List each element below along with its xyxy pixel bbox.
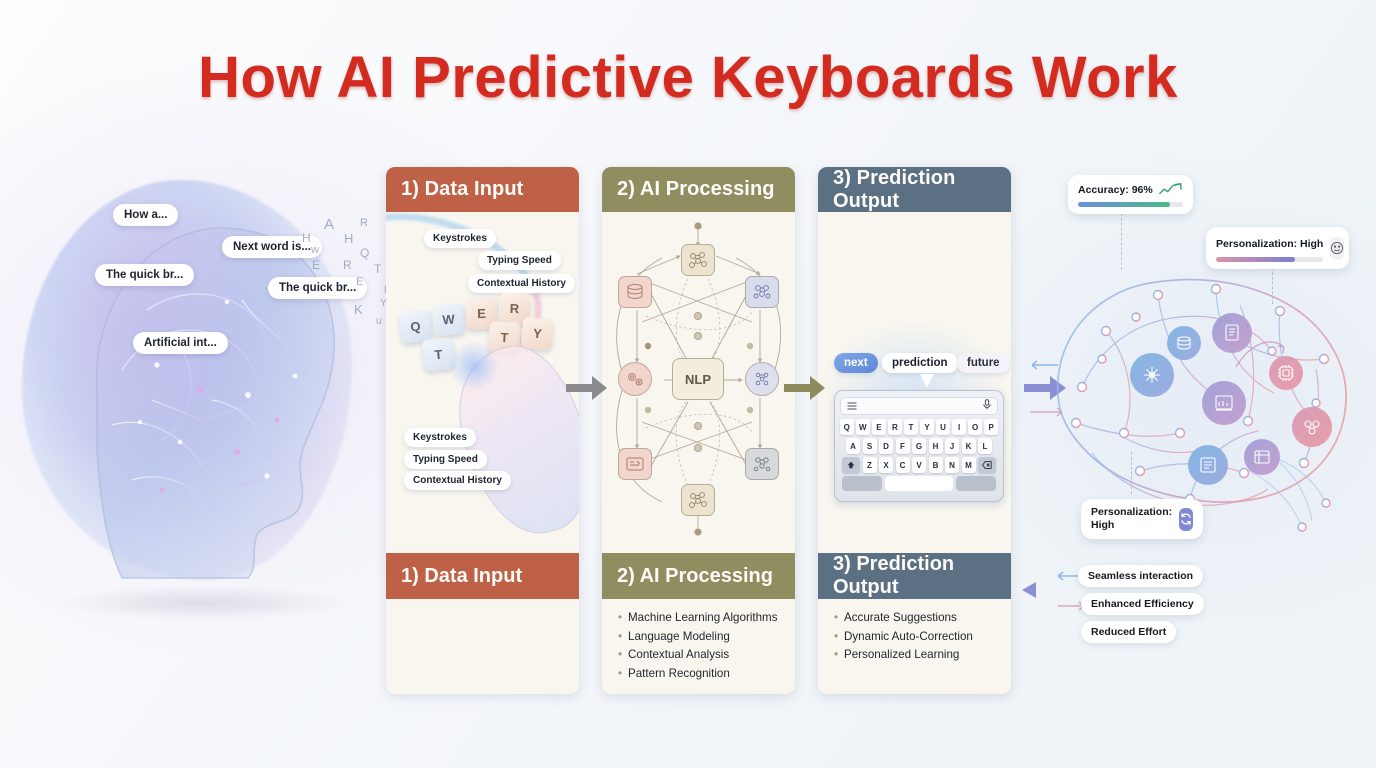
keyboard-toolbar [840,397,998,415]
key-t[interactable]: T [904,419,918,435]
virtual-keyboard[interactable]: QWERTYUIOP ASDFGHJKL ZXCVBNM [834,390,1004,502]
trending-up-icon [1159,182,1183,197]
outcome-pill-2: Reduced Effort [1081,621,1176,643]
key-c[interactable]: C [896,457,910,473]
speech-bubble-tail [920,374,934,388]
panel-bullets-ai-processing: Machine Learning AlgorithmsLanguage Mode… [602,599,795,694]
key-s[interactable]: S [863,438,877,454]
tag-typing-speed-top: Typing Speed [478,251,561,270]
panel-header-prediction-output: 3) Prediction Output [818,167,1011,212]
floating-letter-3: R [360,217,368,229]
prediction-chip-prediction[interactable]: prediction [882,353,958,373]
node-gear-left [618,362,652,396]
tag-contextual-history-bottom: Contextual History [404,471,511,490]
panel-prediction-output[interactable]: 3) Prediction Output next prediction fut… [818,167,1011,694]
panel-body-ai-processing: NLP [602,212,795,553]
floating-letter-11: K [354,302,363,317]
node-network-top [681,244,715,276]
key-f[interactable]: F [896,438,910,454]
key-spacebar[interactable] [885,476,953,491]
list-item: Personalized Learning [834,648,1001,661]
list-item: Language Modeling [618,630,785,643]
key-q[interactable]: Q [840,419,854,435]
personalization-bar-fill [1216,257,1295,262]
key-d[interactable]: D [879,438,893,454]
accuracy-bar-fill [1078,202,1170,207]
prediction-chip-future[interactable]: future [957,353,1010,373]
keyboard-row-space [840,476,998,491]
microphone-icon[interactable] [983,397,991,415]
key-x[interactable]: X [879,457,893,473]
panel-footer-header-prediction-output: 3) Prediction Output [818,553,1011,599]
keyboard-row-3: ZXCVBNM [840,457,998,473]
keyboard-row-1: QWERTYUIOP [840,419,998,435]
panel-header-ai-processing: 2) AI Processing [602,167,795,212]
personalization-label-bottom: Personalization: High [1091,506,1172,532]
key-w[interactable]: W [856,419,870,435]
finger-tap-glow [448,340,500,392]
node-network-bottom [681,484,715,516]
floating-letter-5: Q [360,246,369,260]
tag-keystrokes-top: Keystrokes [424,229,496,248]
key-k[interactable]: K [962,438,976,454]
node-network-bottom-right [745,448,779,480]
floating-letter-14: u [376,316,382,327]
nlp-label: NLP [685,372,711,387]
list-item: Dynamic Auto-Correction [834,630,1001,643]
key-b[interactable]: B [929,457,943,473]
accuracy-bar-track [1078,202,1183,207]
key-m[interactable]: M [962,457,976,473]
list-item: Accurate Suggestions [834,611,1001,624]
panel-data-input[interactable]: 1) Data Input Keystrokes Typing Speed Co… [386,167,579,694]
brain-shadow [57,586,347,620]
tag-keystrokes-bottom: Keystrokes [404,428,476,447]
panel-ai-processing[interactable]: 2) AI Processing [602,167,795,694]
floating-letter-0: A [324,216,334,233]
panel-bullets-data-input [386,599,579,694]
personalization-bar-track [1216,257,1323,262]
list-item: Machine Learning Algorithms [618,611,785,624]
key-u[interactable]: U [936,419,950,435]
floating-letter-8: T [374,262,381,276]
thought-bubble-4: Artificial int... [133,332,228,354]
key-h[interactable]: H [929,438,943,454]
personalization-badge-top[interactable]: Personalization: High [1206,227,1349,269]
accuracy-label: Accuracy: 96% [1078,184,1153,196]
key-n[interactable]: N [945,457,959,473]
arrow-input-to-processing [566,375,608,401]
node-code-left [618,448,652,480]
floating-letter-1: H [302,231,311,245]
thought-bubble-0: How a... [113,204,178,226]
key-e[interactable]: E [872,419,886,435]
thought-bubble-3: The quick br... [268,277,367,299]
list-item: Contextual Analysis [618,648,785,661]
key-o[interactable]: O [968,419,982,435]
thought-bubble-2: The quick br... [95,264,194,286]
key-numeric-toggle[interactable] [842,476,882,491]
floating-letter-10: E [356,276,363,288]
key-a[interactable]: A [846,438,860,454]
node-network-right [745,276,779,308]
keyboard-row-2: ASDFGHJKL [840,438,998,454]
floating-key-y: Y [521,317,555,351]
node-nodes-right [745,362,779,396]
key-i[interactable]: I [952,419,966,435]
floating-letter-2: H [344,231,353,246]
key-r[interactable]: R [888,419,902,435]
backspace-icon[interactable] [978,457,996,473]
smiley-face-icon [1330,237,1344,260]
node-nlp-center: NLP [672,358,724,400]
outcome-pill-1: Enhanced Efficiency [1081,593,1204,615]
prediction-chip-prediction-label: prediction [892,357,948,369]
tag-contextual-history-top: Contextual History [468,274,575,293]
shift-icon[interactable] [842,457,860,473]
menu-icon[interactable] [847,397,857,415]
key-z[interactable]: Z [863,457,877,473]
list-item: Pattern Recognition [618,667,785,680]
key-v[interactable]: V [912,457,926,473]
panel-body-prediction-output: next prediction future QWERTYUIOP ASDFGH… [818,212,1011,553]
key-return[interactable] [956,476,996,491]
key-g[interactable]: G [912,438,926,454]
key-j[interactable]: J [945,438,959,454]
refresh-sync-icon [1179,508,1193,531]
key-p[interactable]: P [984,419,998,435]
floating-key-q: Q [398,309,433,344]
panel-footer-header-ai-processing: 2) AI Processing [602,553,795,599]
key-l[interactable]: L [978,438,992,454]
floating-letter-6: E [312,258,320,272]
outcome-pill-0: Seamless interaction [1078,565,1203,587]
page-title: How AI Predictive Keyboards Work [0,44,1376,111]
panel-bullets-prediction-output: Accurate SuggestionsDynamic Auto-Correct… [818,599,1011,694]
tag-typing-speed-bottom: Typing Speed [404,450,487,469]
dash-connector-bottom [1131,452,1132,494]
panel-footer-header-data-input: 1) Data Input [386,553,579,599]
prediction-chip-next[interactable]: next [834,353,878,373]
arrow-processing-to-output [784,375,826,401]
key-y[interactable]: Y [920,419,934,435]
dash-connector-accuracy [1121,208,1122,270]
accuracy-badge[interactable]: Accuracy: 96% [1068,175,1193,214]
panel-body-data-input: Keystrokes Typing Speed Contextual Histo… [386,212,579,553]
floating-letter-4: w [311,244,319,256]
personalization-badge-bottom[interactable]: Personalization: High [1081,499,1203,539]
panel-header-data-input: 1) Data Input [386,167,579,212]
personalization-label-top: Personalization: High [1216,238,1323,250]
floating-letter-7: R [343,258,352,272]
node-database-left [618,276,652,308]
floating-key-w: W [432,303,465,336]
